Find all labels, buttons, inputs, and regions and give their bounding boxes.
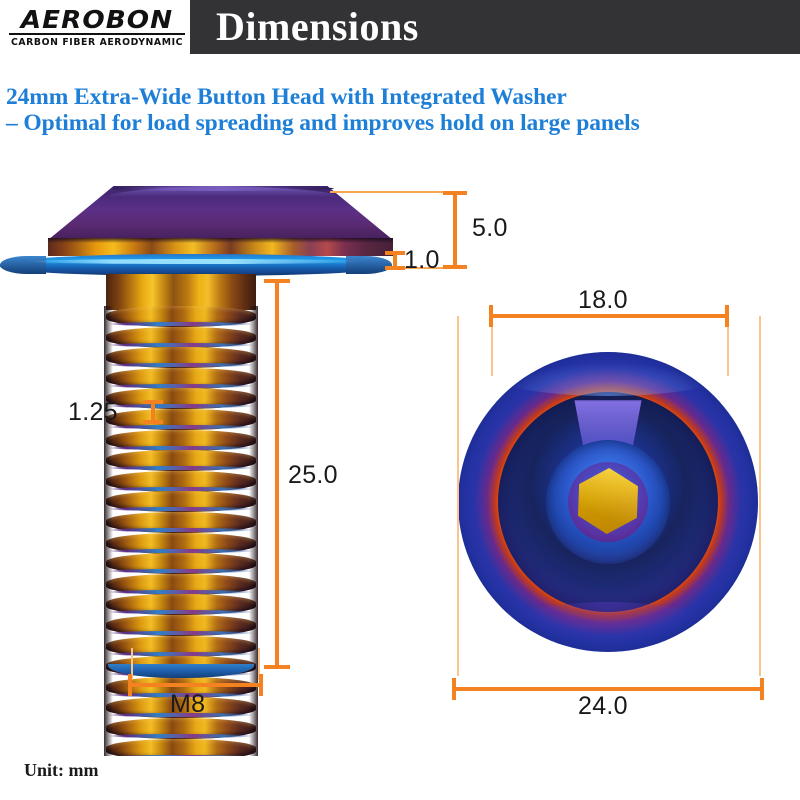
- bolt-head-band-shadow: [48, 238, 393, 243]
- dim-label-head-height: 5.0: [472, 214, 508, 243]
- brand-logo-divider: [9, 33, 185, 35]
- thread-ring: [106, 327, 256, 348]
- thread-ring: [106, 574, 256, 595]
- page-header: Dimensions AEROBON CARBON FIBER AERODYNA…: [0, 0, 800, 57]
- dim-cap-length-top: [264, 279, 290, 283]
- product-description: 24mm Extra-Wide Button Head with Integra…: [6, 84, 796, 136]
- dim-label-head-diameter: 18.0: [578, 286, 628, 315]
- thread-ring: [106, 615, 256, 636]
- dim-cap-washer-bottom: [385, 266, 405, 270]
- thread-ring: [106, 347, 256, 368]
- thread-ring: [106, 471, 256, 492]
- thread-ring: [106, 636, 256, 657]
- dim-label-thread-size: M8: [170, 690, 205, 719]
- washer-edge-left: [0, 256, 46, 274]
- dim-line-thread-size: [128, 683, 263, 687]
- brand-logo: AEROBON CARBON FIBER AERODYNAMIC: [5, 6, 185, 50]
- dim-line-head-height: [453, 191, 457, 269]
- header-title-bar: Dimensions: [190, 0, 800, 54]
- dim-cap-18-left: [489, 305, 493, 327]
- washer-highlight: [30, 259, 360, 264]
- bolt-shank-collar: [106, 274, 256, 310]
- thread-ring: [106, 739, 256, 756]
- integrated-washer-flange: [0, 254, 392, 276]
- thread-ring: [106, 306, 256, 327]
- dim-label-flange-diameter: 24.0: [578, 692, 628, 721]
- thread-ring: [106, 368, 256, 389]
- thread-ring: [106, 553, 256, 574]
- brand-logo-wordmark: AEROBON: [5, 6, 190, 33]
- page-title: Dimensions: [190, 0, 800, 54]
- thread-ring: [106, 718, 256, 739]
- top-view-gloss-bottom: [514, 602, 702, 642]
- dim-cap-m8-right: [259, 674, 263, 696]
- dim-label-thread-length: 25.0: [288, 461, 338, 490]
- thread-ring: [106, 594, 256, 615]
- dim-cap-24-left: [452, 678, 456, 700]
- thread-ring: [106, 512, 256, 533]
- thread-ring: [106, 450, 256, 471]
- thread-ring: [106, 430, 256, 451]
- dim-label-thread-pitch: 1.25: [68, 398, 118, 427]
- dim-cap-head-bottom: [443, 265, 467, 269]
- top-view-gloss-top: [504, 362, 712, 396]
- thread-ring: [106, 409, 256, 430]
- thread-ring: [106, 491, 256, 512]
- product-dimension-diagram: Dimensions AEROBON CARBON FIBER AERODYNA…: [0, 0, 800, 800]
- dim-cap-washer-top: [385, 251, 405, 255]
- dim-label-washer-thickness: 1.0: [404, 246, 440, 275]
- brand-logo-tagline: CARBON FIBER AERODYNAMIC: [9, 36, 185, 49]
- dim-cap-head-top: [443, 191, 467, 195]
- dim-cap-pitch-bottom: [143, 420, 163, 424]
- product-description-line-2: – Optimal for load spreading and improve…: [6, 110, 796, 136]
- thread-ring: [106, 533, 256, 554]
- dim-line-flange-diameter: [452, 687, 764, 691]
- dim-cap-m8-left: [128, 674, 132, 696]
- bolt-top-view: [458, 352, 758, 652]
- dim-cap-18-right: [725, 305, 729, 327]
- ext-line-24-left: [457, 316, 459, 676]
- dim-cap-24-right: [760, 678, 764, 700]
- unit-note: Unit: mm: [24, 760, 99, 781]
- bolt-side-view: [0, 186, 400, 686]
- dim-cap-length-bottom: [264, 665, 290, 669]
- ext-line-head-top: [330, 191, 458, 193]
- product-description-line-1: 24mm Extra-Wide Button Head with Integra…: [6, 84, 796, 110]
- dim-cap-pitch-top: [143, 400, 163, 404]
- washer-edge-right: [346, 256, 392, 274]
- thread-ring: [106, 388, 256, 409]
- dim-line-thread-length: [275, 279, 279, 669]
- ext-line-24-right: [759, 316, 761, 676]
